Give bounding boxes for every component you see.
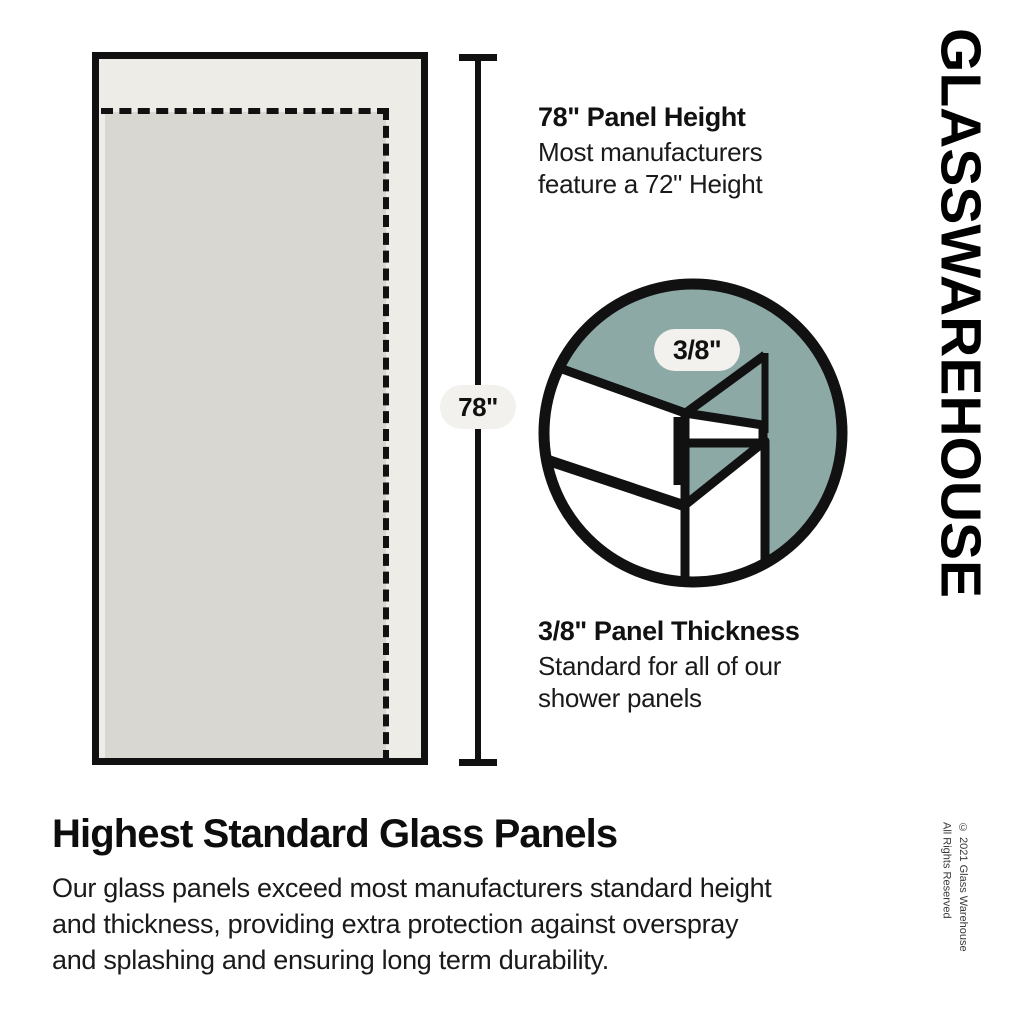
copyright-text: © 2021 Glass Warehouse All Rights Reserv… — [938, 822, 971, 952]
thickness-circle-figure: 3/8" — [533, 273, 853, 593]
thickness-callout-line2: shower panels — [538, 683, 702, 713]
thickness-callout-body: Standard for all of our shower panels — [538, 650, 878, 714]
brand-wordmark: GLASSWAREHOUSE — [905, 28, 1015, 608]
footer-heading: Highest Standard Glass Panels — [52, 812, 892, 857]
panel-dashed-reference-outline — [101, 108, 389, 762]
footer-body: Our glass panels exceed most manufacture… — [52, 871, 892, 979]
footer-block: Highest Standard Glass Panels Our glass … — [52, 812, 892, 979]
thickness-callout-line1: Standard for all of our — [538, 651, 781, 681]
copyright-notice: © 2021 Glass Warehouse All Rights Reserv… — [938, 822, 978, 992]
copyright-line1: © 2021 Glass Warehouse — [957, 822, 969, 952]
height-callout-body: Most manufacturers feature a 72" Height — [538, 136, 868, 200]
height-callout-title: 78" Panel Height — [538, 102, 868, 133]
footer-body-line2: and thickness, providing extra protectio… — [52, 909, 738, 939]
footer-body-line1: Our glass panels exceed most manufacture… — [52, 873, 772, 903]
footer-body-line3: and splashing and ensuring long term dur… — [52, 945, 609, 975]
height-callout: 78" Panel Height Most manufacturers feat… — [538, 102, 868, 200]
brand-wordmark-text: GLASSWAREHOUSE — [932, 28, 989, 598]
thickness-badge: 3/8" — [654, 329, 740, 371]
height-dimension-badge: 78" — [440, 385, 516, 429]
infographic-page: 78" 78" Panel Height Most manufacturers … — [0, 0, 1024, 1024]
dimension-cap-bottom — [459, 759, 497, 766]
thickness-callout-title: 3/8" Panel Thickness — [538, 616, 878, 647]
thickness-illustration-svg — [533, 273, 853, 593]
copyright-line2: All Rights Reserved — [941, 822, 953, 919]
height-callout-line2: feature a 72" Height — [538, 169, 762, 199]
height-callout-line1: Most manufacturers — [538, 137, 762, 167]
thickness-callout: 3/8" Panel Thickness Standard for all of… — [538, 616, 878, 714]
